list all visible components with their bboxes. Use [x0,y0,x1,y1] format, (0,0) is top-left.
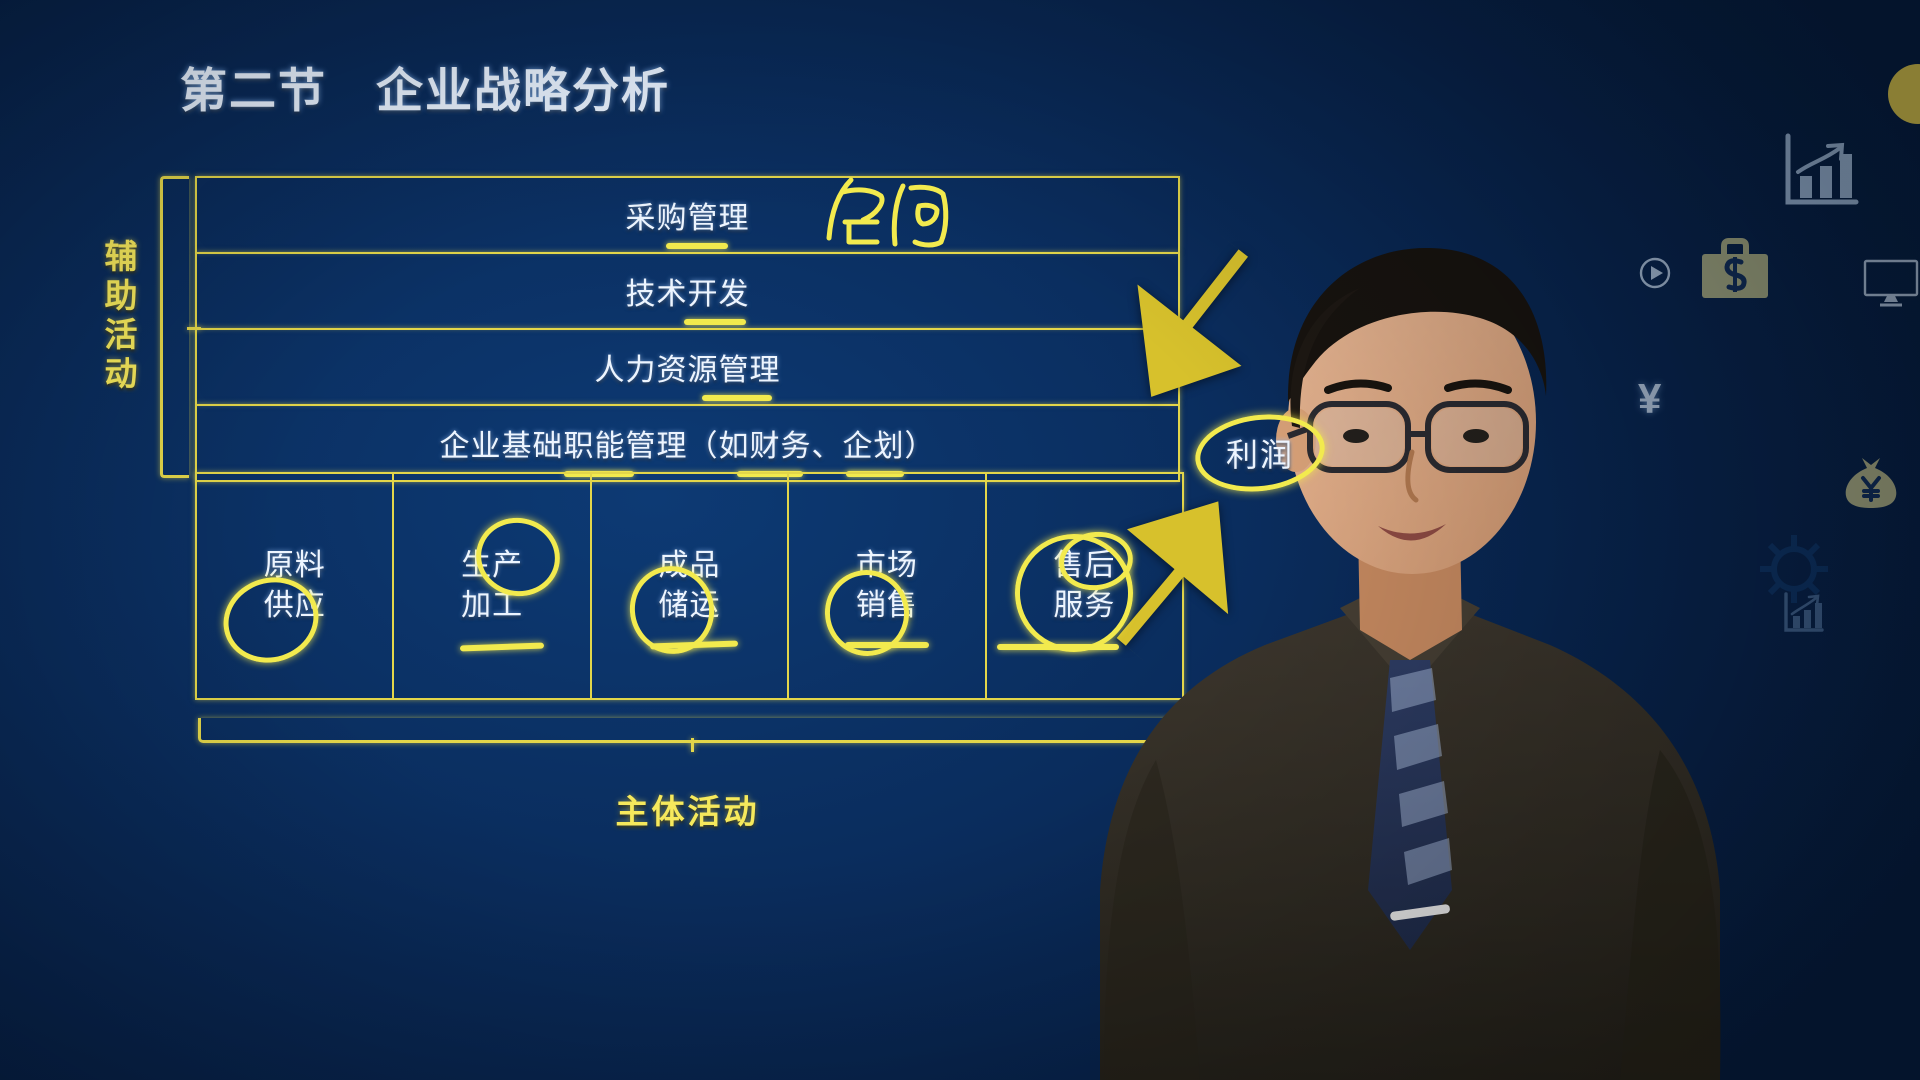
support-row-label: 技术开发 [626,269,750,313]
support-activities-label: 辅助活动 [98,238,144,394]
handdrawn-underline [650,640,738,649]
presenter-video-figure [1060,190,1760,1080]
primary-cell-label: 市场 销售 [856,546,918,625]
yellow-circle-decor [1888,64,1920,124]
bar-chart-growth-icon [1778,128,1864,219]
primary-activities-row: 原料 供应 生产 加工 成品 储运 市场 销售 售后 服务 [195,472,1184,700]
handdrawn-underline [666,243,728,249]
support-row-label: 人力资源管理 [595,345,781,389]
support-activities-bracket [160,176,189,478]
primary-cell-marketing-sales: 市场 销售 [789,474,986,698]
primary-cell-label: 生产 加工 [461,546,523,625]
support-row-hr: 人力资源管理 [195,328,1180,404]
support-row-procurement: 采购管理 [195,176,1180,252]
handdrawn-underline [997,644,1119,650]
handdrawn-underline [460,643,544,652]
gear-decor-icon [1755,530,1833,613]
primary-activities-bracket [198,718,1184,743]
support-activities-stack: 采购管理 技术开发 人力资源管理 企业基础职能管理（如财务、企划） [195,176,1180,482]
lecture-slide-video-frame: 第二节 企业战略分析 辅助活动 采购管理 技术开发 人力资源管理 企业基础职能管… [0,0,1920,1080]
support-row-infrastructure: 企业基础职能管理（如财务、企划） [195,404,1180,482]
handdrawn-underline [702,395,772,401]
handwritten-profit-note [815,172,965,252]
support-row-label: 企业基础职能管理（如财务、企划） [440,421,936,465]
value-chain-diagram: 采购管理 技术开发 人力资源管理 企业基础职能管理（如财务、企划） 原料 供应 … [195,176,1180,696]
profit-label: 利润 [1226,430,1294,476]
support-row-label: 采购管理 [626,193,750,237]
primary-cell-label: 售后 服务 [1053,546,1115,625]
handdrawn-underline [845,642,929,648]
primary-cell-production: 生产 加工 [394,474,591,698]
primary-cell-label: 成品 储运 [659,546,721,625]
money-bag-yen-icon [1840,452,1902,515]
slide-title: 第二节 企业战略分析 [180,52,670,121]
primary-cell-label: 原料 供应 [264,546,326,625]
support-row-technology: 技术开发 [195,252,1180,328]
primary-cell-finished-goods-storage: 成品 储运 [592,474,789,698]
profit-callout: 利润 [1195,415,1325,491]
handdrawn-underline [684,319,746,325]
primary-cell-raw-material-supply: 原料 供应 [197,474,394,698]
monitor-icon [1862,258,1920,313]
